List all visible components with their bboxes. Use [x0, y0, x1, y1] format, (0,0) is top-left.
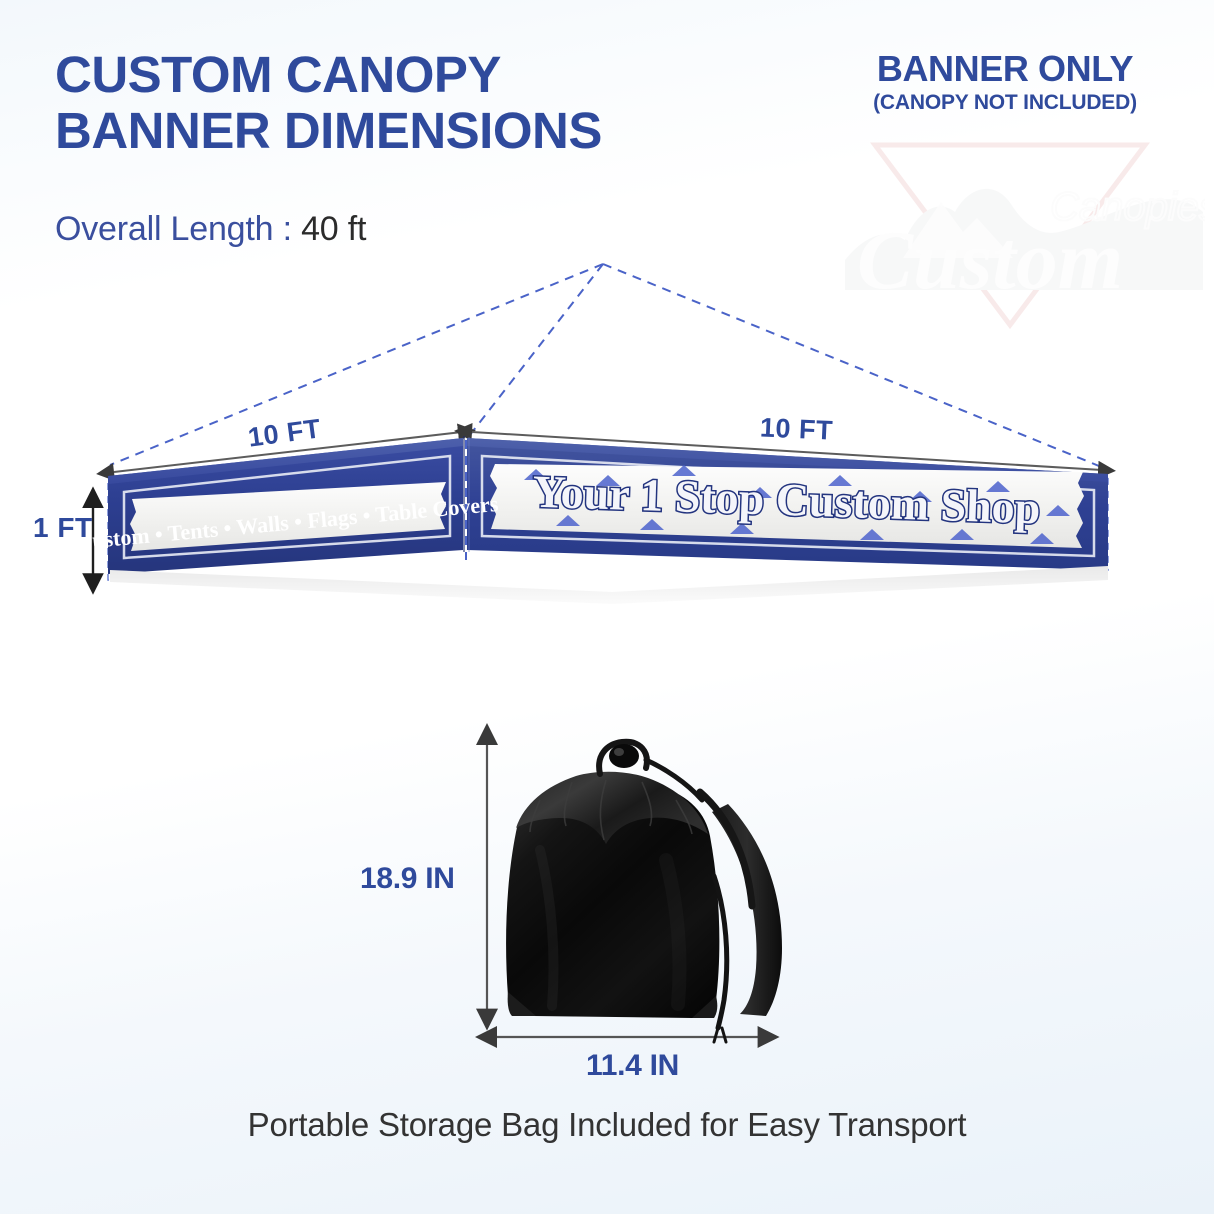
banner-only-notice: BANNER ONLY (CANOPY NOT INCLUDED) — [840, 50, 1170, 114]
watermark-outline-text: Canopies — [1050, 185, 1205, 229]
storage-bag-caption: Portable Storage Bag Included for Easy T… — [0, 1106, 1214, 1144]
drawstring-toggle — [609, 744, 639, 768]
page-title-line2: BANNER DIMENSIONS — [55, 103, 715, 159]
bag-width-label: 11.4 IN — [586, 1049, 679, 1083]
canopy-diagram: Custom • Tents • Walls • Flags • Table C… — [0, 240, 1214, 620]
infographic-canvas: Canopies Custom CUSTOM CANOPY BANNER DIM… — [0, 0, 1214, 1214]
bag-height-label: 18.9 IN — [360, 862, 455, 896]
storage-bag-diagram — [0, 700, 1214, 1100]
dimension-label-height-1ft: 1 FT — [33, 512, 93, 544]
canopy-not-included-note: (CANOPY NOT INCLUDED) — [840, 92, 1170, 114]
dimension-label-right-10ft: 10 FT — [759, 412, 833, 446]
page-title: CUSTOM CANOPY BANNER DIMENSIONS — [55, 47, 715, 159]
banner-only-headline: BANNER ONLY — [840, 50, 1170, 88]
page-title-line1: CUSTOM CANOPY — [55, 46, 501, 103]
